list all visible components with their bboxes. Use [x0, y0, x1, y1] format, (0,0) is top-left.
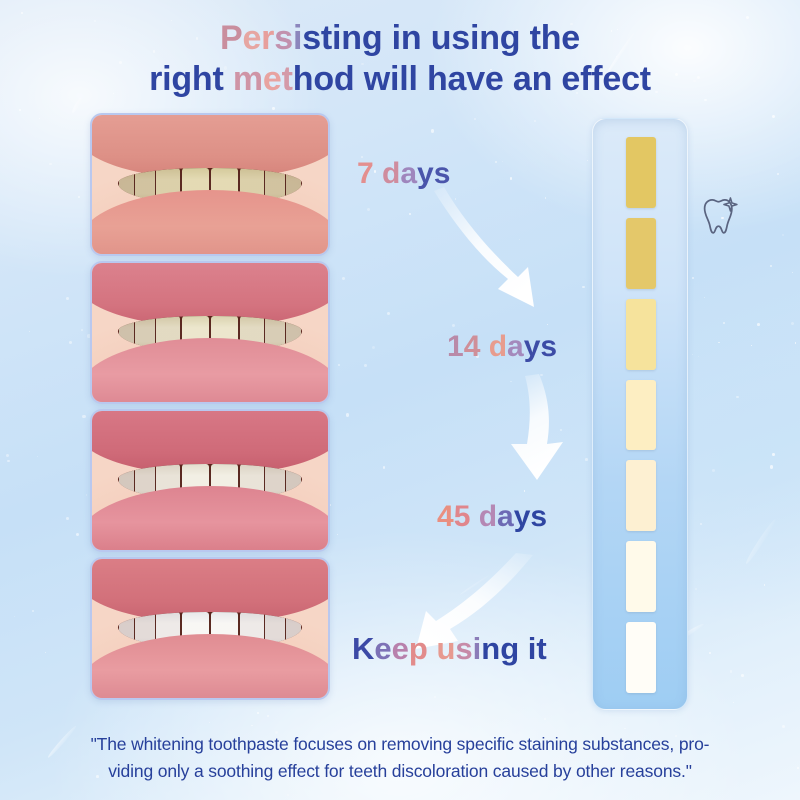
title-char-seg-3: t: [282, 60, 293, 98]
sparkle-dot: [764, 584, 765, 585]
title-char-seg-1: m: [233, 60, 263, 98]
arrow-7-to-14-icon: [430, 185, 580, 325]
shade-bar-5: [626, 460, 656, 531]
sparkle-dot: [791, 322, 794, 325]
title-line-2: right method will have an effect: [0, 59, 800, 100]
stage-char-seg-6: i: [473, 631, 482, 666]
stage-char-seg-1: 5: [454, 500, 471, 533]
sparkle-dot: [700, 523, 702, 525]
sparkle-dot: [698, 356, 699, 357]
title-char-seg-2: r: [261, 19, 274, 57]
sparkle-dot: [723, 322, 725, 324]
stage-char-seg-0: 1: [447, 330, 464, 363]
title-char-seg-2: e: [263, 60, 282, 98]
sparkle-dot: [45, 652, 46, 653]
sparkle-dot: [730, 670, 733, 673]
tooth: [119, 612, 135, 648]
sparkle-dot: [86, 494, 88, 496]
sparkle-dot: [695, 588, 697, 590]
sparkle-dot: [346, 413, 349, 416]
stage-char-seg-3: a: [507, 330, 524, 363]
stage-label-keep-using-it: Keep using it: [352, 631, 547, 667]
sparkle-dot: [19, 109, 21, 111]
sparkle-dot: [712, 469, 715, 472]
sparkle-dot: [6, 454, 9, 457]
sparkle-dot: [624, 728, 626, 730]
sparkle-dot: [267, 715, 269, 717]
stage-char-seg-5: s: [455, 631, 472, 666]
shade-bar-2: [626, 218, 656, 289]
stage-char-seg-2: e: [392, 631, 409, 666]
sparkle-dot: [338, 364, 340, 366]
tooth: [119, 168, 135, 204]
shade-bar-6: [626, 541, 656, 612]
sparkle-dot: [209, 722, 210, 723]
stage-char-seg-0: 7: [357, 157, 374, 190]
stage-char-seg-2: a: [400, 157, 417, 190]
stage-char-seg-1: 4: [464, 330, 481, 363]
title-char-seg-4: i: [293, 19, 302, 57]
caption-line-2: viding only a soothing effect for teeth …: [24, 758, 776, 785]
stage-char-seg-0: K: [352, 631, 374, 666]
sparkle-dot: [751, 345, 752, 346]
stage-label-7-days: 7 days: [357, 157, 450, 191]
sparkle-dot: [287, 794, 289, 796]
shade-bar-4: [626, 380, 656, 451]
sparkle-dot: [364, 364, 367, 367]
sparkle-dot: [736, 396, 739, 399]
sparkle-dot: [782, 725, 785, 728]
sparkle-dot: [692, 354, 693, 355]
sparkle-dot: [474, 118, 476, 120]
sparkle-dot: [14, 616, 15, 617]
sparkle-dot: [409, 213, 411, 215]
sparkle-dot: [692, 277, 695, 280]
sparkle-dot: [383, 466, 385, 468]
sparkle-dot: [82, 415, 85, 418]
stage-char-seg-4: ys: [524, 330, 557, 363]
sparkle-dot: [770, 265, 772, 267]
stage-char-seg-4: u: [436, 631, 455, 666]
sparkle-dot: [544, 718, 546, 720]
sparkle-dot: [495, 161, 497, 163]
sparkle-dot: [39, 118, 40, 119]
sparkle-dot: [777, 173, 779, 175]
sparkle-dot: [21, 12, 23, 14]
sparkle-dot: [772, 115, 775, 118]
sparkle-dot: [733, 702, 734, 703]
sparkle-dot: [342, 277, 345, 280]
sparkle-dot: [372, 346, 375, 349]
stage-char-seg-3: ys: [417, 157, 450, 190]
stage-label-14-days: 14 days: [447, 330, 557, 364]
tooth: [286, 464, 302, 500]
sparkle-dot: [797, 767, 799, 769]
stage-char-seg-1: d: [374, 157, 401, 190]
tooth: [286, 612, 302, 648]
sparkle-dot: [792, 272, 793, 273]
poster-root: Persisting in using the right method wil…: [0, 0, 800, 800]
title-char-seg-5: sting in using the: [302, 19, 580, 57]
sparkle-dot: [272, 107, 275, 110]
tooth-shade-guide: [592, 118, 688, 710]
title-char-seg-0: P: [220, 19, 242, 57]
sparkle-dot: [66, 297, 69, 300]
sparkle-dot: [709, 652, 711, 654]
sparkle-dot: [76, 533, 79, 536]
stage-char-seg-3: a: [497, 500, 514, 533]
tooth: [286, 168, 302, 204]
title-char-seg-1: e: [242, 19, 261, 57]
stage-char-seg-4: ys: [514, 500, 547, 533]
stage-char-seg-2: d: [480, 330, 507, 363]
sparkle-dot: [704, 297, 705, 298]
sparkle-dot: [37, 456, 38, 457]
caption-line-1: "The whitening toothpaste focuses on rem…: [24, 731, 776, 758]
sparkle-dot: [502, 161, 503, 162]
sparkle-dot: [251, 725, 253, 727]
stage-label-45-days: 45 days: [437, 500, 547, 534]
stage-char-seg-1: e: [374, 631, 391, 666]
before-after-photo-3: [90, 409, 330, 552]
caption: "The whitening toothpaste focuses on rem…: [24, 731, 776, 785]
sparkle-dot: [387, 312, 390, 315]
sparkle-dot: [81, 329, 83, 331]
stage-char-seg-3: p: [409, 631, 437, 666]
before-after-photo-4: [90, 557, 330, 700]
sparkle-dot: [69, 341, 72, 344]
stage-char-seg-0: 4: [437, 500, 454, 533]
before-after-photo-2: [90, 261, 330, 404]
sparkle-dot: [49, 163, 51, 165]
sparkle-dot: [741, 674, 744, 677]
sparkle-dot: [587, 160, 588, 161]
sparkle-streak: [744, 518, 777, 565]
title-char-seg-4: hod will have an effect: [293, 60, 651, 98]
sparkle-dot: [534, 120, 536, 122]
title-char-seg-3: s: [274, 19, 293, 57]
tooth: [286, 316, 302, 352]
sparkle-dot: [431, 129, 434, 132]
tooth: [119, 316, 135, 352]
before-after-photo-1: [90, 113, 330, 256]
sparkle-dot: [434, 696, 436, 698]
shade-bar-1: [626, 137, 656, 208]
sparkle-dot: [367, 208, 370, 211]
title-line-1: Persisting in using the: [0, 18, 800, 59]
shade-bar-7: [626, 622, 656, 693]
sparkle-dot: [29, 331, 30, 332]
sparkle-dot: [78, 196, 80, 198]
stage-char-seg-7: ng it: [481, 631, 546, 666]
sparkle-dot: [32, 610, 34, 612]
sparkle-dot: [337, 534, 338, 535]
sparkle-dot: [66, 517, 69, 520]
stage-char-seg-2: d: [470, 500, 497, 533]
sparkle-dot: [718, 342, 720, 344]
title-char-seg-0: right: [149, 60, 233, 98]
sparkle-dot: [582, 286, 585, 289]
tooth: [119, 464, 135, 500]
tooth-sparkle-icon: [696, 196, 740, 242]
sparkle-dot: [510, 177, 513, 180]
sparkle-dot: [257, 712, 259, 714]
sparkle-dot: [770, 465, 773, 468]
sparkle-dot: [772, 453, 775, 456]
sparkle-dot: [757, 323, 760, 326]
arrow-14-to-45-icon: [495, 372, 585, 502]
sparkle-dot: [7, 460, 9, 462]
sparkle-dot: [795, 342, 797, 344]
shade-bar-3: [626, 299, 656, 370]
sparkle-dot: [585, 458, 588, 461]
sparkle-dot: [782, 234, 784, 236]
page-title: Persisting in using the right method wil…: [0, 18, 800, 100]
